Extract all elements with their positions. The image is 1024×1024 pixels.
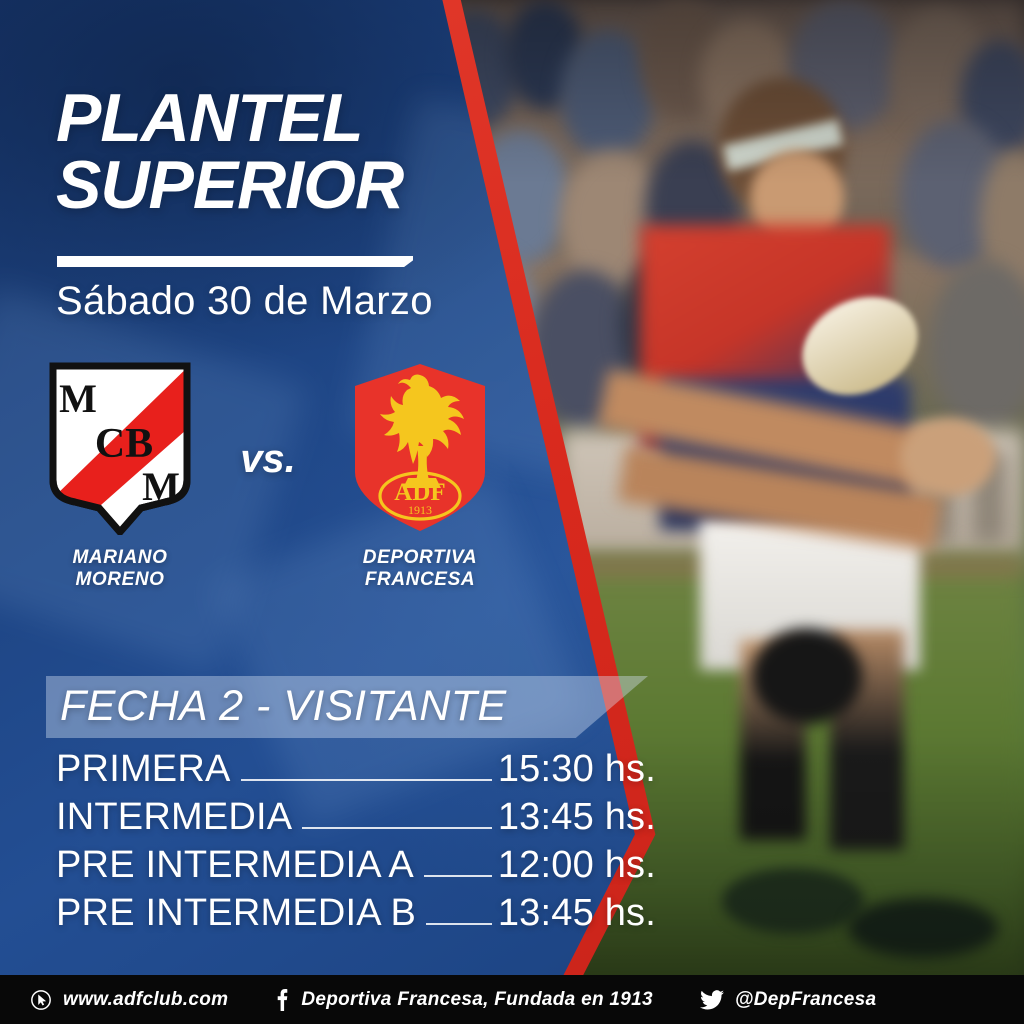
schedule-time: 15:30 hs. bbox=[498, 748, 656, 791]
footer-website[interactable]: www.adfclub.com bbox=[30, 989, 228, 1011]
schedule-time: 13:45 hs. bbox=[498, 796, 656, 839]
schedule-leader-line bbox=[241, 779, 492, 781]
footer-twitter-label: @DepFrancesa bbox=[735, 989, 876, 1011]
schedule-leader-line bbox=[424, 875, 492, 877]
team-name-line-2: FRANCESA bbox=[365, 569, 475, 590]
fixture-round-label: FECHA 2 - VISITANTE bbox=[60, 682, 507, 731]
team-name-line-1: DEPORTIVA bbox=[363, 547, 478, 568]
team-mariano-moreno: M CB M MARIANO MORENO bbox=[30, 360, 210, 592]
schedule-category: PRE INTERMEDIA B bbox=[56, 892, 416, 935]
schedule-row: PRE INTERMEDIA B 13:45 hs. bbox=[56, 892, 656, 940]
schedule-leader-line bbox=[426, 923, 492, 925]
svg-text:CB: CB bbox=[95, 421, 153, 467]
schedule-time: 13:45 hs. bbox=[498, 892, 656, 935]
match-date: Sábado 30 de Marzo bbox=[56, 279, 433, 324]
crest-year-text: 1913 bbox=[408, 503, 432, 517]
crest-ball-text: ADF bbox=[394, 479, 445, 506]
schedule-leader-line bbox=[302, 827, 491, 829]
team-deportiva-francesa: ADF 1913 DEPORTIVA FRANCESA bbox=[330, 360, 510, 592]
schedule-list: PRIMERA 15:30 hs. INTERMEDIA 13:45 hs. P… bbox=[56, 748, 656, 940]
cursor-circle-icon bbox=[30, 989, 52, 1011]
schedule-category: PRE INTERMEDIA A bbox=[56, 844, 414, 887]
headline-line-2: SUPERIOR bbox=[56, 152, 576, 219]
schedule-row: PRE INTERMEDIA A 12:00 hs. bbox=[56, 844, 656, 892]
match-announcement-poster: PLANTEL SUPERIOR Sábado 30 de Marzo M CB… bbox=[0, 0, 1024, 1024]
twitter-icon bbox=[700, 990, 724, 1010]
facebook-icon bbox=[275, 989, 290, 1011]
team-name-line-1: MARIANO bbox=[73, 547, 168, 568]
page-title: PLANTEL SUPERIOR bbox=[56, 85, 576, 218]
team-name-line-2: MORENO bbox=[75, 569, 164, 590]
headline-line-1: PLANTEL bbox=[56, 80, 363, 156]
deportiva-francesa-crest-icon: ADF 1913 bbox=[345, 360, 495, 535]
footer-website-label: www.adfclub.com bbox=[63, 989, 228, 1011]
schedule-category: PRIMERA bbox=[56, 748, 231, 791]
schedule-category: INTERMEDIA bbox=[56, 796, 292, 839]
schedule-time: 12:00 hs. bbox=[498, 844, 656, 887]
footer-facebook-label: Deportiva Francesa, Fundada en 1913 bbox=[301, 989, 653, 1011]
versus-label: vs. bbox=[208, 437, 328, 482]
team-name-mariano-moreno: MARIANO MORENO bbox=[30, 547, 210, 592]
schedule-row: PRIMERA 15:30 hs. bbox=[56, 748, 656, 796]
footer-twitter[interactable]: @DepFrancesa bbox=[700, 989, 876, 1011]
team-name-deportiva-francesa: DEPORTIVA FRANCESA bbox=[330, 547, 510, 592]
svg-text:M: M bbox=[142, 464, 180, 509]
footer-facebook[interactable]: Deportiva Francesa, Fundada en 1913 bbox=[275, 989, 653, 1011]
title-divider-rule bbox=[57, 256, 413, 267]
schedule-row: INTERMEDIA 13:45 hs. bbox=[56, 796, 656, 844]
footer-bar: www.adfclub.com Deportiva Francesa, Fund… bbox=[0, 975, 1024, 1024]
mariano-moreno-crest-icon: M CB M bbox=[45, 360, 195, 535]
svg-text:M: M bbox=[59, 376, 97, 421]
teams-row: M CB M MARIANO MORENO ADF 1913 bbox=[0, 360, 560, 630]
